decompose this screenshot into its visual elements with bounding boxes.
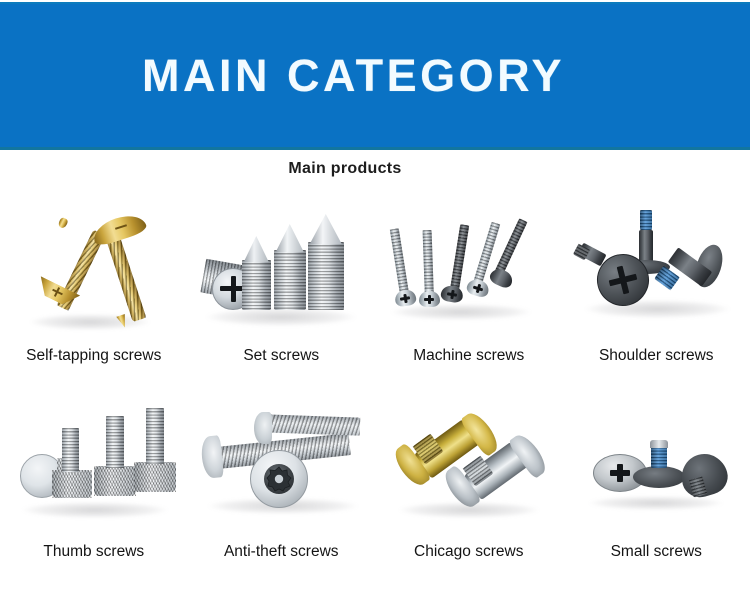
- small-screws-image: [563, 392, 750, 538]
- self-tapping-screws-image: [0, 196, 187, 342]
- category-label: Machine screws: [413, 348, 524, 364]
- category-card-small-screws[interactable]: Small screws: [563, 392, 750, 588]
- machine-screws-image: [375, 196, 562, 342]
- category-card-self-tapping-screws[interactable]: Self-tapping screws: [0, 196, 188, 392]
- category-card-thumb-screws[interactable]: Thumb screws: [0, 392, 188, 588]
- page-title: MAIN CATEGORY: [142, 53, 565, 98]
- category-label: Thumb screws: [43, 544, 144, 560]
- category-card-set-screws[interactable]: Set screws: [188, 196, 376, 392]
- anti-theft-screws-image: [188, 392, 375, 538]
- main-category-banner: MAIN CATEGORY: [0, 2, 750, 150]
- category-card-anti-theft-screws[interactable]: Anti-theft screws: [188, 392, 376, 588]
- category-card-shoulder-screws[interactable]: Shoulder screws: [563, 196, 750, 392]
- section-subheading: Main products: [0, 160, 690, 178]
- category-card-machine-screws[interactable]: Machine screws: [375, 196, 563, 392]
- category-label: Set screws: [243, 348, 319, 364]
- category-label: Small screws: [611, 544, 702, 560]
- category-label: Shoulder screws: [599, 348, 714, 364]
- category-label: Chicago screws: [414, 544, 523, 560]
- category-card-chicago-screws[interactable]: Chicago screws: [375, 392, 563, 588]
- category-label: Self-tapping screws: [26, 348, 161, 364]
- chicago-screws-image: [375, 392, 562, 538]
- product-category-grid: Self-tapping screws Set screws: [0, 196, 750, 588]
- thumb-screws-image: [0, 392, 187, 538]
- category-label: Anti-theft screws: [224, 544, 339, 560]
- set-screws-image: [188, 196, 375, 342]
- security-torx-drive-icon: [266, 466, 292, 492]
- shoulder-screws-image: [563, 196, 750, 342]
